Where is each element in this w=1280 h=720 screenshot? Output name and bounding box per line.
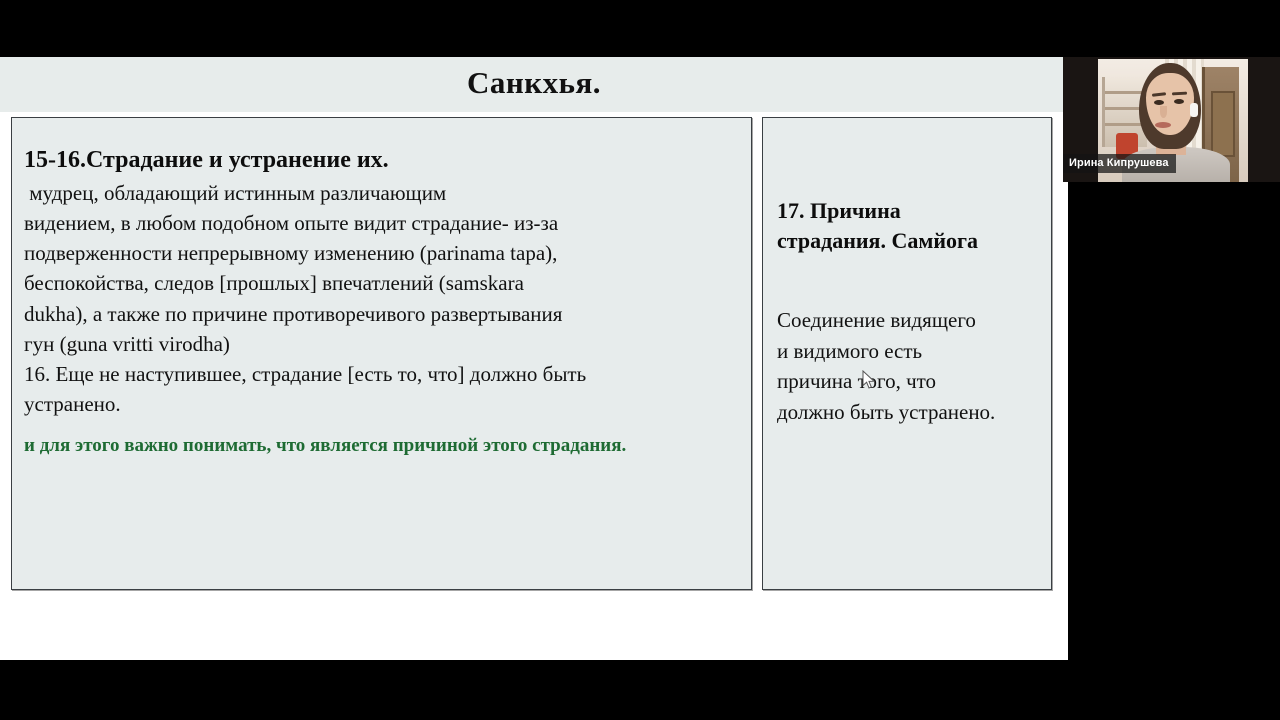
shared-slide: Санкхья. 15-16.Страдание и устранение их… bbox=[0, 57, 1068, 660]
right-box-heading: 17. Причина страдания. Самйога bbox=[777, 196, 1041, 255]
left-box-line-2: видением, в любом подобном опыте видит с… bbox=[24, 208, 740, 238]
participant-name-label: Ирина Кипрушева bbox=[1063, 154, 1176, 173]
left-box-line-1: мудрец, обладающий истинным различающим bbox=[24, 178, 740, 208]
slide-title-band: Санкхья. bbox=[0, 57, 1068, 112]
left-box-highlighted-text: и для этого важно понимать, что является… bbox=[24, 426, 736, 467]
left-box-heading: 15-16.Страдание и устранение их. bbox=[24, 145, 740, 176]
person-eye-left bbox=[1154, 100, 1164, 105]
left-box-line-5: dukha), а также по причине противоречиво… bbox=[24, 299, 740, 329]
person-nose bbox=[1160, 106, 1167, 118]
door-panel bbox=[1211, 91, 1235, 157]
left-box-line-7: 16. Еще не наступившее, страдание [есть … bbox=[24, 359, 740, 389]
participant-video-tile[interactable]: Ирина Кипрушева bbox=[1063, 57, 1280, 182]
left-box-line-8: устранено. bbox=[24, 389, 740, 419]
left-box-line-6: гун (guna vritti virodha) bbox=[24, 329, 740, 359]
right-content-box: 17. Причина страдания. Самйога Соединени… bbox=[762, 117, 1052, 590]
left-box-line-4: беспокойства, следов [прошлых] впечатлен… bbox=[24, 268, 740, 298]
left-content-inner: 15-16.Страдание и устранение их. мудрец,… bbox=[12, 118, 751, 466]
page-title: Санкхья. bbox=[0, 57, 1068, 109]
person-mouth bbox=[1155, 122, 1171, 128]
earbud-icon bbox=[1190, 103, 1198, 117]
right-content-inner: 17. Причина страдания. Самйога Соединени… bbox=[763, 118, 1051, 427]
person-eye-right bbox=[1174, 99, 1184, 104]
left-content-box: 15-16.Страдание и устранение их. мудрец,… bbox=[11, 117, 752, 590]
meeting-screen: Санкхья. 15-16.Страдание и устранение их… bbox=[0, 0, 1280, 720]
left-box-line-3: подверженности непрерывному изменению (p… bbox=[24, 238, 740, 268]
right-box-body: Соединение видящего и видимого есть прич… bbox=[777, 305, 1041, 427]
